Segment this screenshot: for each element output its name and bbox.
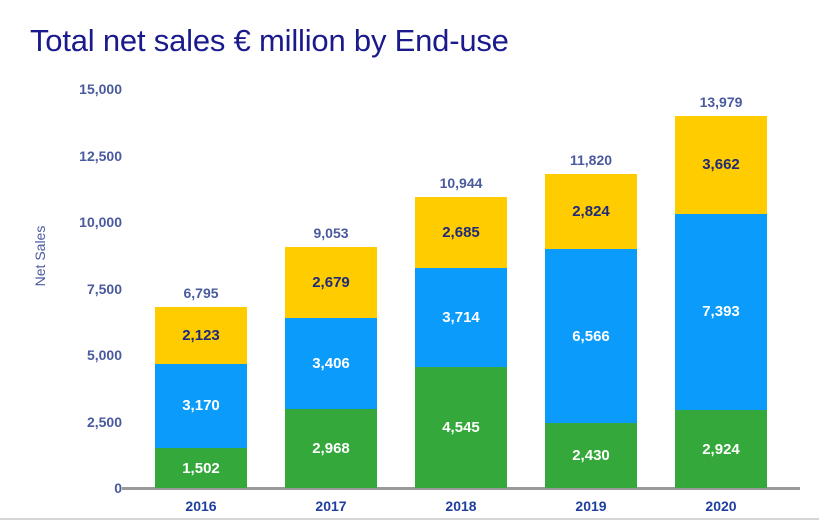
bar-segment-yellow[interactable]: 2,123 [155,307,247,363]
bar-group[interactable]: 2,8246,5662,43011,820 [545,89,637,488]
bar-segment-value: 1,502 [182,460,220,477]
bar-segment-green[interactable]: 2,968 [285,409,377,488]
bar-segment-blue[interactable]: 3,714 [415,268,507,367]
bar-segment-green[interactable]: 2,924 [675,410,767,488]
bar-stack: 2,6853,7144,545 [415,197,507,488]
bar-segment-value: 2,685 [442,224,480,241]
y-axis-tick-label: 10,000 [2,214,122,230]
x-axis-tick-label: 2018 [415,498,507,514]
bar-stack: 3,6627,3932,924 [675,116,767,488]
bar-stack: 2,1233,1701,502 [155,307,247,488]
bar-segment-value: 2,123 [182,327,220,344]
bar-total-label: 9,053 [313,225,348,241]
bar-total-label: 11,820 [570,152,612,168]
bar-segment-yellow[interactable]: 2,679 [285,247,377,318]
bar-segment-yellow[interactable]: 3,662 [675,116,767,213]
bar-segment-value: 3,170 [182,397,220,414]
bar-segment-value: 2,430 [572,447,610,464]
y-axis-tick-label: 5,000 [2,347,122,363]
bar-segment-value: 2,968 [312,440,350,457]
x-axis-tick-label: 2017 [285,498,377,514]
bar-segment-value: 7,393 [702,303,740,320]
bar-stack: 2,8246,5662,430 [545,174,637,488]
bar-segment-green[interactable]: 4,545 [415,367,507,488]
stacked-bar-chart: Net Sales 02,5005,0007,50010,00012,50015… [0,0,819,526]
y-axis-tick-label: 15,000 [2,81,122,97]
y-axis-tick-label: 2,500 [2,414,122,430]
bar-segment-blue[interactable]: 3,170 [155,364,247,448]
bar-stack: 2,6793,4062,968 [285,247,377,488]
bar-total-label: 13,979 [700,94,743,110]
bar-segment-blue[interactable]: 3,406 [285,318,377,409]
y-axis-tick-label: 0 [2,480,122,496]
bar-segment-blue[interactable]: 6,566 [545,249,637,424]
bar-segment-green[interactable]: 1,502 [155,448,247,488]
bar-segment-value: 4,545 [442,419,480,436]
bar-segment-value: 2,824 [572,203,610,220]
bar-segment-green[interactable]: 2,430 [545,423,637,488]
bar-segment-yellow[interactable]: 2,685 [415,197,507,268]
plot-area: 2,1233,1701,5026,7952,6793,4062,9689,053… [128,89,800,488]
x-axis-tick-label: 2020 [675,498,767,514]
bar-segment-value: 2,679 [312,274,350,291]
y-axis-tick-label: 12,500 [2,148,122,164]
y-axis-tick-label: 7,500 [2,281,122,297]
slide-footer-divider [0,518,819,520]
bar-total-label: 6,795 [183,285,218,301]
x-axis-tick-label: 2019 [545,498,637,514]
y-axis-title: Net Sales [32,226,48,287]
x-axis-tick-label: 2016 [155,498,247,514]
bar-segment-blue[interactable]: 7,393 [675,214,767,411]
bar-segment-value: 3,406 [312,355,350,372]
bar-group[interactable]: 3,6627,3932,92413,979 [675,89,767,488]
bar-group[interactable]: 2,6853,7144,54510,944 [415,89,507,488]
bar-segment-value: 3,662 [702,156,740,173]
bar-group[interactable]: 2,6793,4062,9689,053 [285,89,377,488]
y-axis: Net Sales 02,5005,0007,50010,00012,50015… [0,0,122,526]
bar-segment-value: 3,714 [442,309,480,326]
bar-segment-yellow[interactable]: 2,824 [545,174,637,249]
bar-group[interactable]: 2,1233,1701,5026,795 [155,89,247,488]
slide-canvas: Total net sales € million by End-use Net… [0,0,819,526]
bar-segment-value: 2,924 [702,441,740,458]
bar-total-label: 10,944 [440,175,483,191]
bar-segment-value: 6,566 [572,328,610,345]
